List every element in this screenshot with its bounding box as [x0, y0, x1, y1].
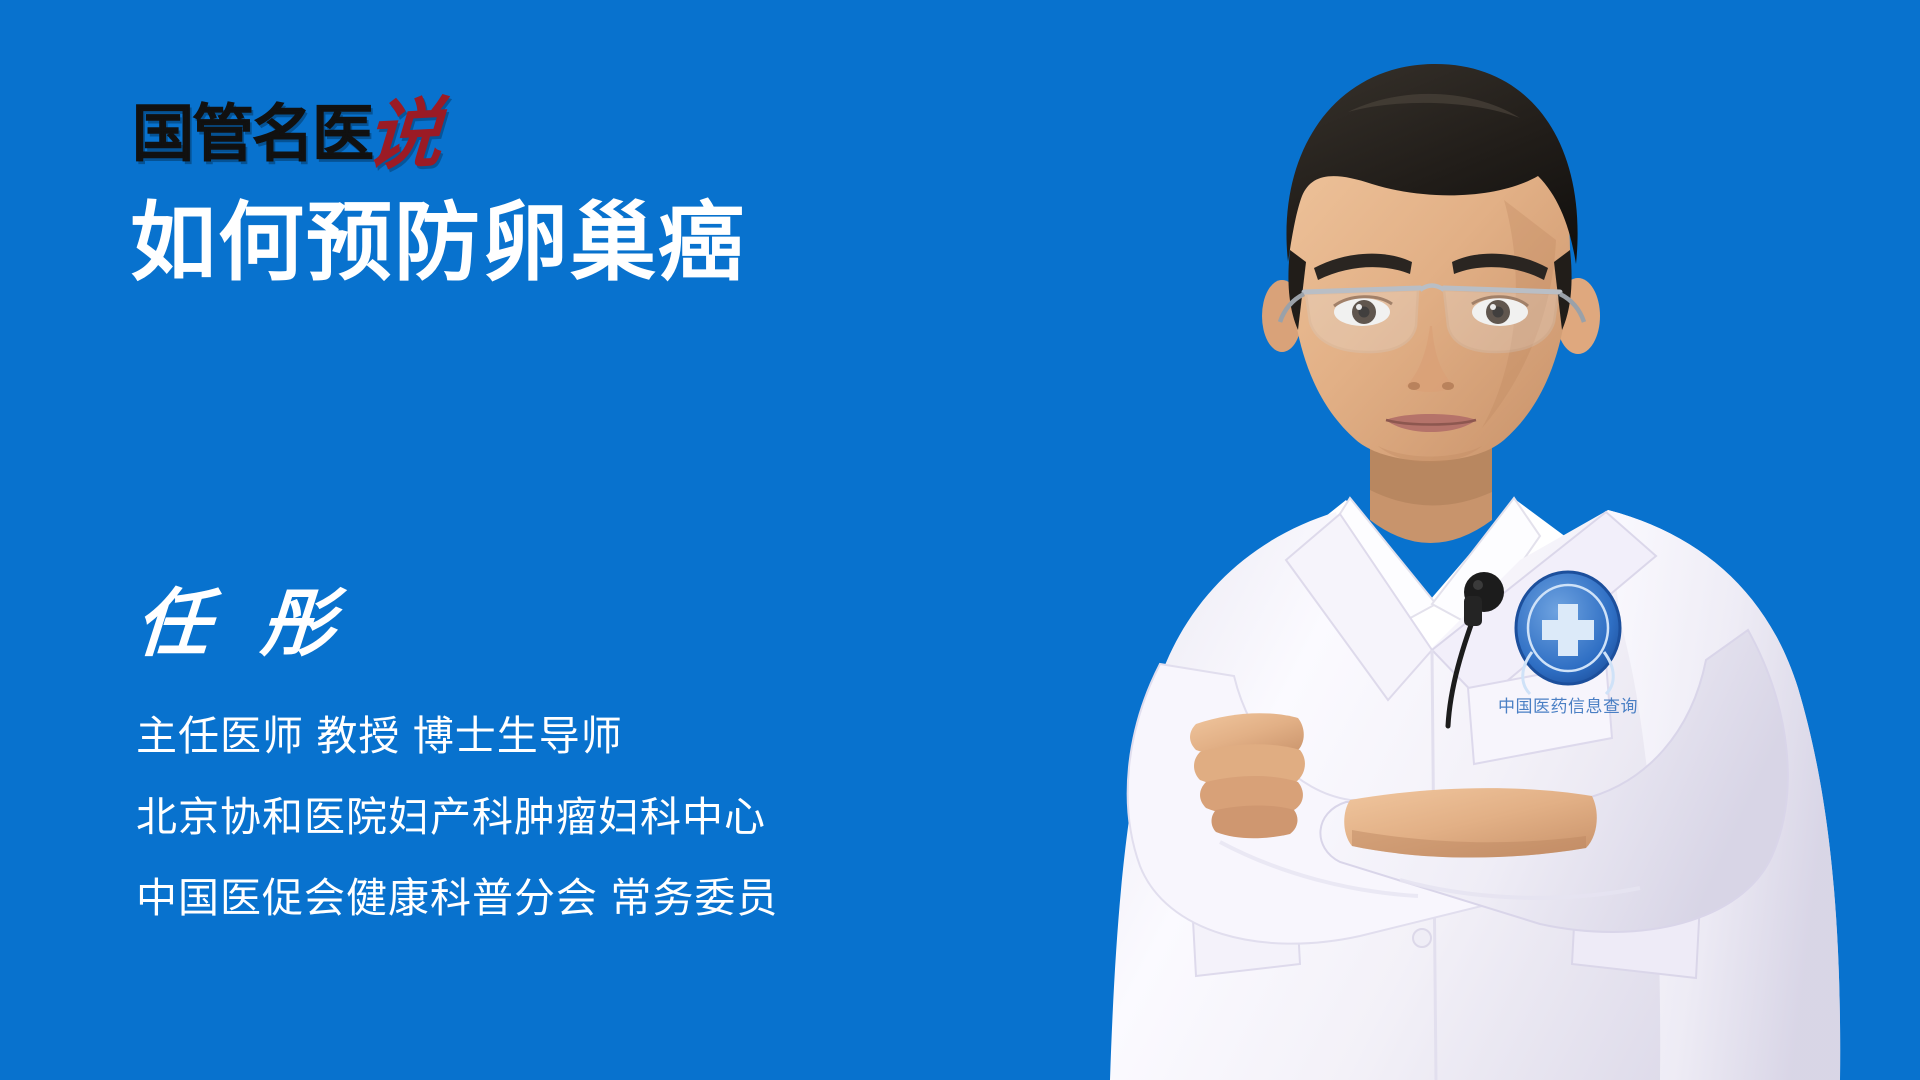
- credential-line-3: 中国医促会健康科普分会 常务委员: [136, 877, 778, 920]
- nostril-right: [1442, 382, 1454, 390]
- credential-line-1: 主任医师 教授 博士生导师: [136, 715, 778, 758]
- speaker-portrait: 中国医药信息查询: [1100, 0, 1920, 1080]
- lab-coat-button-2: [1413, 929, 1431, 947]
- page-title: 如何预防卵巢癌: [130, 196, 746, 291]
- presentation-slide: 国管名医 说 如何预防卵巢癌 任 彤 主任医师 教授 博士生导师 北京协和医院妇…: [0, 0, 1920, 1080]
- program-logo: 国管名医 说: [132, 92, 442, 172]
- microphone-highlight: [1473, 580, 1483, 590]
- speaker-portrait-illustration: 中国医药信息查询: [1100, 0, 1920, 1080]
- speaker-credentials: 主任医师 教授 博士生导师 北京协和医院妇产科肿瘤妇科中心 中国医促会健康科普分…: [136, 715, 778, 920]
- speaker-name: 任 彤: [133, 588, 353, 662]
- program-logo-black-text: 国管名医: [132, 104, 372, 166]
- badge-caption: 中国医药信息查询: [1498, 697, 1638, 716]
- credential-line-2: 北京协和医院妇产科肿瘤妇科中心: [136, 796, 778, 839]
- program-logo-red-text: 说: [364, 96, 444, 176]
- nostril-left: [1408, 382, 1420, 390]
- microphone-clip: [1464, 596, 1482, 626]
